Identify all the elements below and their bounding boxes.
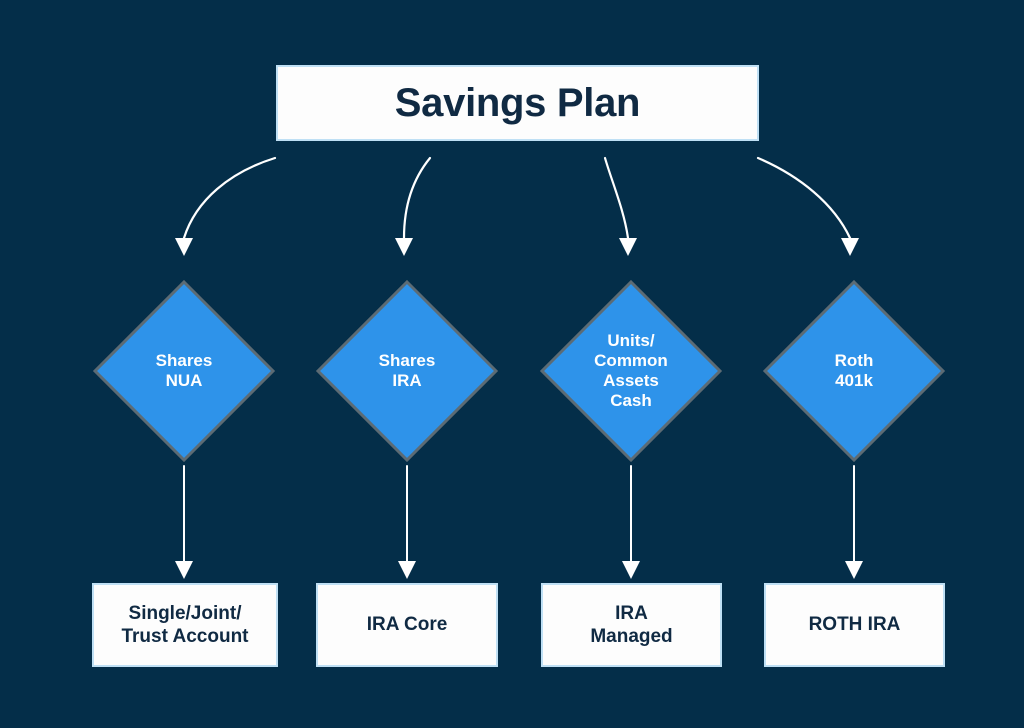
decision-node-1[interactable]: Shares NUA (93, 280, 275, 462)
arrowhead-3 (619, 238, 637, 256)
arrowhead-5 (175, 561, 193, 579)
decision-node-3-label: Units/ Common Assets Cash (575, 331, 687, 411)
decision-node-4[interactable]: Roth 401k (763, 280, 945, 462)
arrowhead-6 (398, 561, 416, 579)
outcome-box-2-label: IRA Core (361, 613, 454, 636)
decision-node-1-label: Shares NUA (128, 351, 240, 391)
curved-connector-3 (605, 158, 628, 238)
curved-connector-1 (184, 158, 275, 238)
arrowhead-2 (395, 238, 413, 256)
outcome-box-1-label: Single/Joint/ Trust Account (115, 602, 254, 648)
decision-node-4-label: Roth 401k (798, 351, 910, 391)
arrowhead-1 (175, 238, 193, 256)
arrowhead-7 (622, 561, 640, 579)
decision-node-2[interactable]: Shares IRA (316, 280, 498, 462)
decision-node-3[interactable]: Units/ Common Assets Cash (540, 280, 722, 462)
arrowhead-4 (841, 238, 859, 256)
outcome-box-3-label: IRA Managed (584, 602, 678, 648)
outcome-box-3[interactable]: IRA Managed (541, 583, 722, 667)
page-title: Savings Plan (395, 82, 640, 124)
outcome-box-1[interactable]: Single/Joint/ Trust Account (92, 583, 278, 667)
outcome-box-2[interactable]: IRA Core (316, 583, 498, 667)
outcome-box-4-label: ROTH IRA (803, 613, 907, 636)
title-box[interactable]: Savings Plan (276, 65, 759, 141)
arrowhead-8 (845, 561, 863, 579)
diagram-canvas: Savings Plan Shares NUA Shares IRA Units… (0, 0, 1024, 728)
decision-node-2-label: Shares IRA (351, 351, 463, 391)
curved-connector-2 (404, 158, 430, 238)
curved-connector-4 (758, 158, 850, 238)
outcome-box-4[interactable]: ROTH IRA (764, 583, 945, 667)
